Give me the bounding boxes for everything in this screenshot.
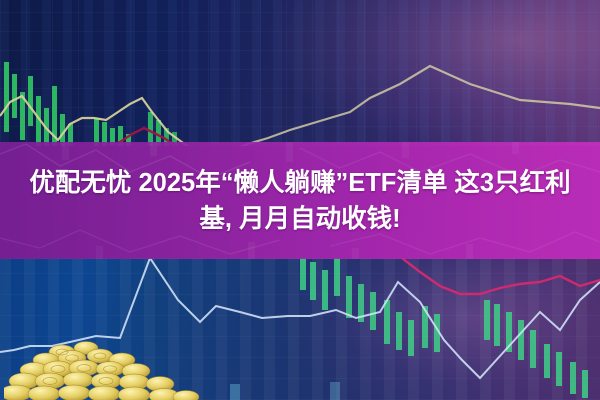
top-chart-panel xyxy=(0,0,600,146)
top-candlesticks xyxy=(4,62,177,146)
bottom-candlesticks xyxy=(230,258,588,400)
top-chart-svg xyxy=(0,0,600,146)
title-line-2: 基, 月月自动收钱! xyxy=(199,202,400,236)
bottom-chart-panel xyxy=(0,258,600,400)
gold-coin-pile-icon xyxy=(4,338,204,400)
top-yellow-line-right xyxy=(248,66,600,144)
thumbnail-image: 优配无忧 2025年“懒人躺赚”ETF清单 这3只红利 基, 月月自动收钱! xyxy=(0,0,600,400)
bottom-pink-line xyxy=(402,258,600,294)
title-line-1: 优配无忧 2025年“懒人躺赚”ETF清单 这3只红利 xyxy=(29,166,570,200)
banner-title: 优配无忧 2025年“懒人躺赚”ETF清单 这3只红利 基, 月月自动收钱! xyxy=(0,142,600,259)
